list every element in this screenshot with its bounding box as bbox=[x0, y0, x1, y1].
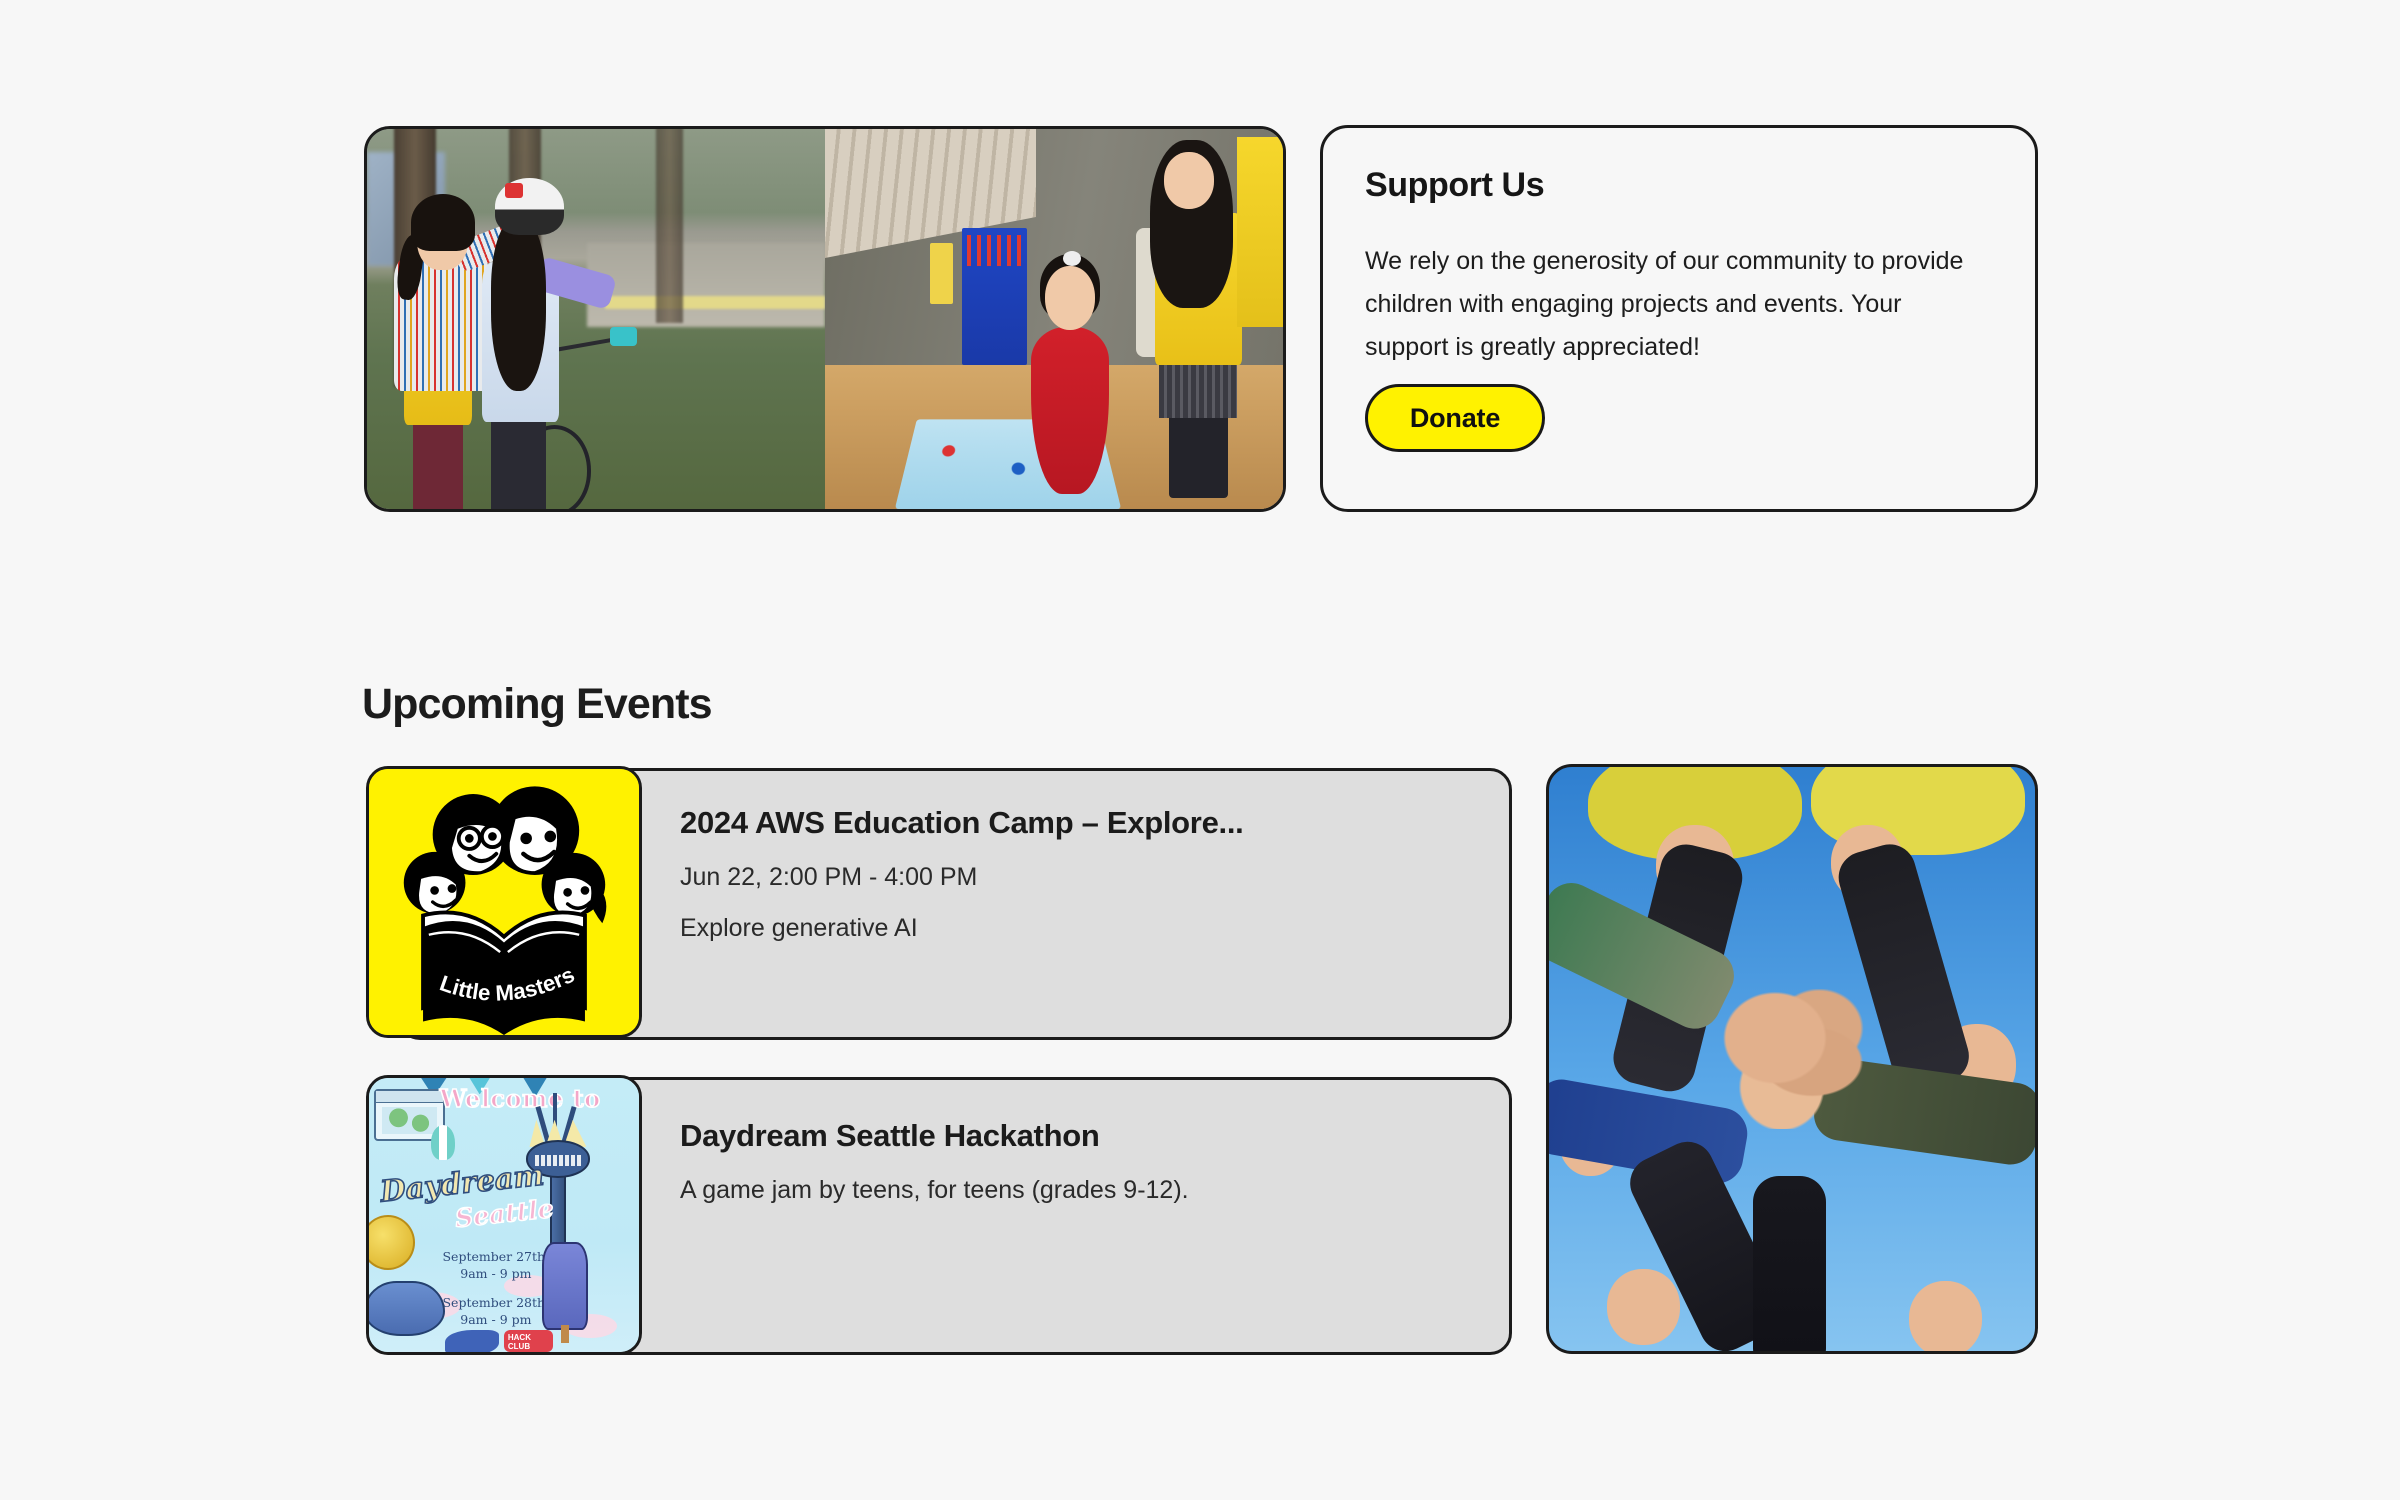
volunteer-face bbox=[1164, 152, 1214, 209]
team-hands-photo bbox=[1546, 764, 2038, 1354]
page-root: Support Us We rely on the generosity of … bbox=[0, 0, 2400, 1500]
yellow-banner bbox=[1237, 137, 1283, 327]
hack-club-badge: HACK CLUB bbox=[504, 1330, 553, 1352]
event-thumbnail-little-masters-club[interactable]: Little Masters Club bbox=[366, 766, 642, 1038]
hero-photo bbox=[364, 126, 1286, 512]
outstretched-arm bbox=[1753, 1176, 1826, 1354]
event-datetime: Jun 22, 2:00 PM - 4:00 PM bbox=[680, 863, 1243, 892]
child-hair bbox=[491, 220, 546, 391]
poster-date-1: September 27th: bbox=[442, 1249, 549, 1264]
road-marking bbox=[605, 296, 825, 309]
volunteer-face bbox=[1909, 1281, 1982, 1354]
child-face bbox=[1045, 266, 1095, 331]
fish-sticker bbox=[445, 1330, 499, 1352]
upcoming-events-heading: Upcoming Events bbox=[362, 680, 712, 729]
hack-club-label: HACK CLUB bbox=[508, 1333, 553, 1351]
poster-date-2: September 28th: bbox=[442, 1295, 549, 1310]
little-masters-club-logo: Little Masters Club bbox=[369, 769, 639, 1035]
event-title: 2024 AWS Education Camp – Explore... bbox=[680, 805, 1243, 841]
child-legs bbox=[491, 410, 546, 509]
child-legs bbox=[413, 418, 463, 509]
event-thumbnail-daydream-seattle[interactable]: Welcome to Daydream Seattle September 27… bbox=[366, 1075, 642, 1355]
poster-welcome-text: Welcome to bbox=[440, 1084, 601, 1113]
volunteer-skirt bbox=[1159, 357, 1237, 418]
stacked-hands bbox=[1707, 989, 1877, 1129]
popsicle-sticker bbox=[542, 1242, 588, 1330]
event-description: A game jam by teens, for teens (grades 9… bbox=[680, 1176, 1189, 1205]
event-details-daydream-seattle-hackathon: Daydream Seattle Hackathon A game jam by… bbox=[680, 1118, 1189, 1205]
child-red-dress bbox=[1031, 327, 1109, 494]
background-road bbox=[587, 243, 825, 327]
child-hair bbox=[411, 194, 475, 251]
support-us-title: Support Us bbox=[1365, 166, 1544, 205]
game-controller-sticker bbox=[369, 1281, 445, 1336]
board-decorations bbox=[967, 235, 1022, 265]
poster-time-1: 9am - 9 pm bbox=[460, 1266, 531, 1281]
hero-photo-scene bbox=[367, 129, 1283, 509]
event-details-aws-education-camp: 2024 AWS Education Camp – Explore... Jun… bbox=[680, 805, 1243, 943]
bicycle-grip bbox=[610, 327, 637, 346]
support-us-description: We rely on the generosity of our communi… bbox=[1365, 240, 1975, 369]
hero-indoor-scene bbox=[825, 129, 1283, 509]
poster-time-2: 9am - 9 pm bbox=[460, 1312, 531, 1327]
daydream-seattle-poster: Welcome to Daydream Seattle September 27… bbox=[369, 1078, 639, 1352]
bike-helmet bbox=[495, 178, 564, 235]
volunteer-face bbox=[1607, 1269, 1680, 1345]
donate-button[interactable]: Donate bbox=[1365, 384, 1545, 452]
coin-sticker bbox=[369, 1215, 415, 1270]
lmc-logo-svg: Little Masters Club bbox=[369, 769, 639, 1035]
hot-air-balloon-sticker bbox=[431, 1125, 455, 1161]
tree bbox=[656, 129, 683, 323]
support-us-card: Support Us We rely on the generosity of … bbox=[1320, 125, 2038, 512]
hair-bow bbox=[1063, 251, 1081, 266]
hero-outdoor-scene bbox=[367, 129, 825, 509]
volunteer-legs bbox=[1169, 414, 1229, 498]
event-title: Daydream Seattle Hackathon bbox=[680, 1118, 1189, 1154]
event-description: Explore generative AI bbox=[680, 914, 1243, 943]
wall-sign bbox=[930, 243, 953, 304]
